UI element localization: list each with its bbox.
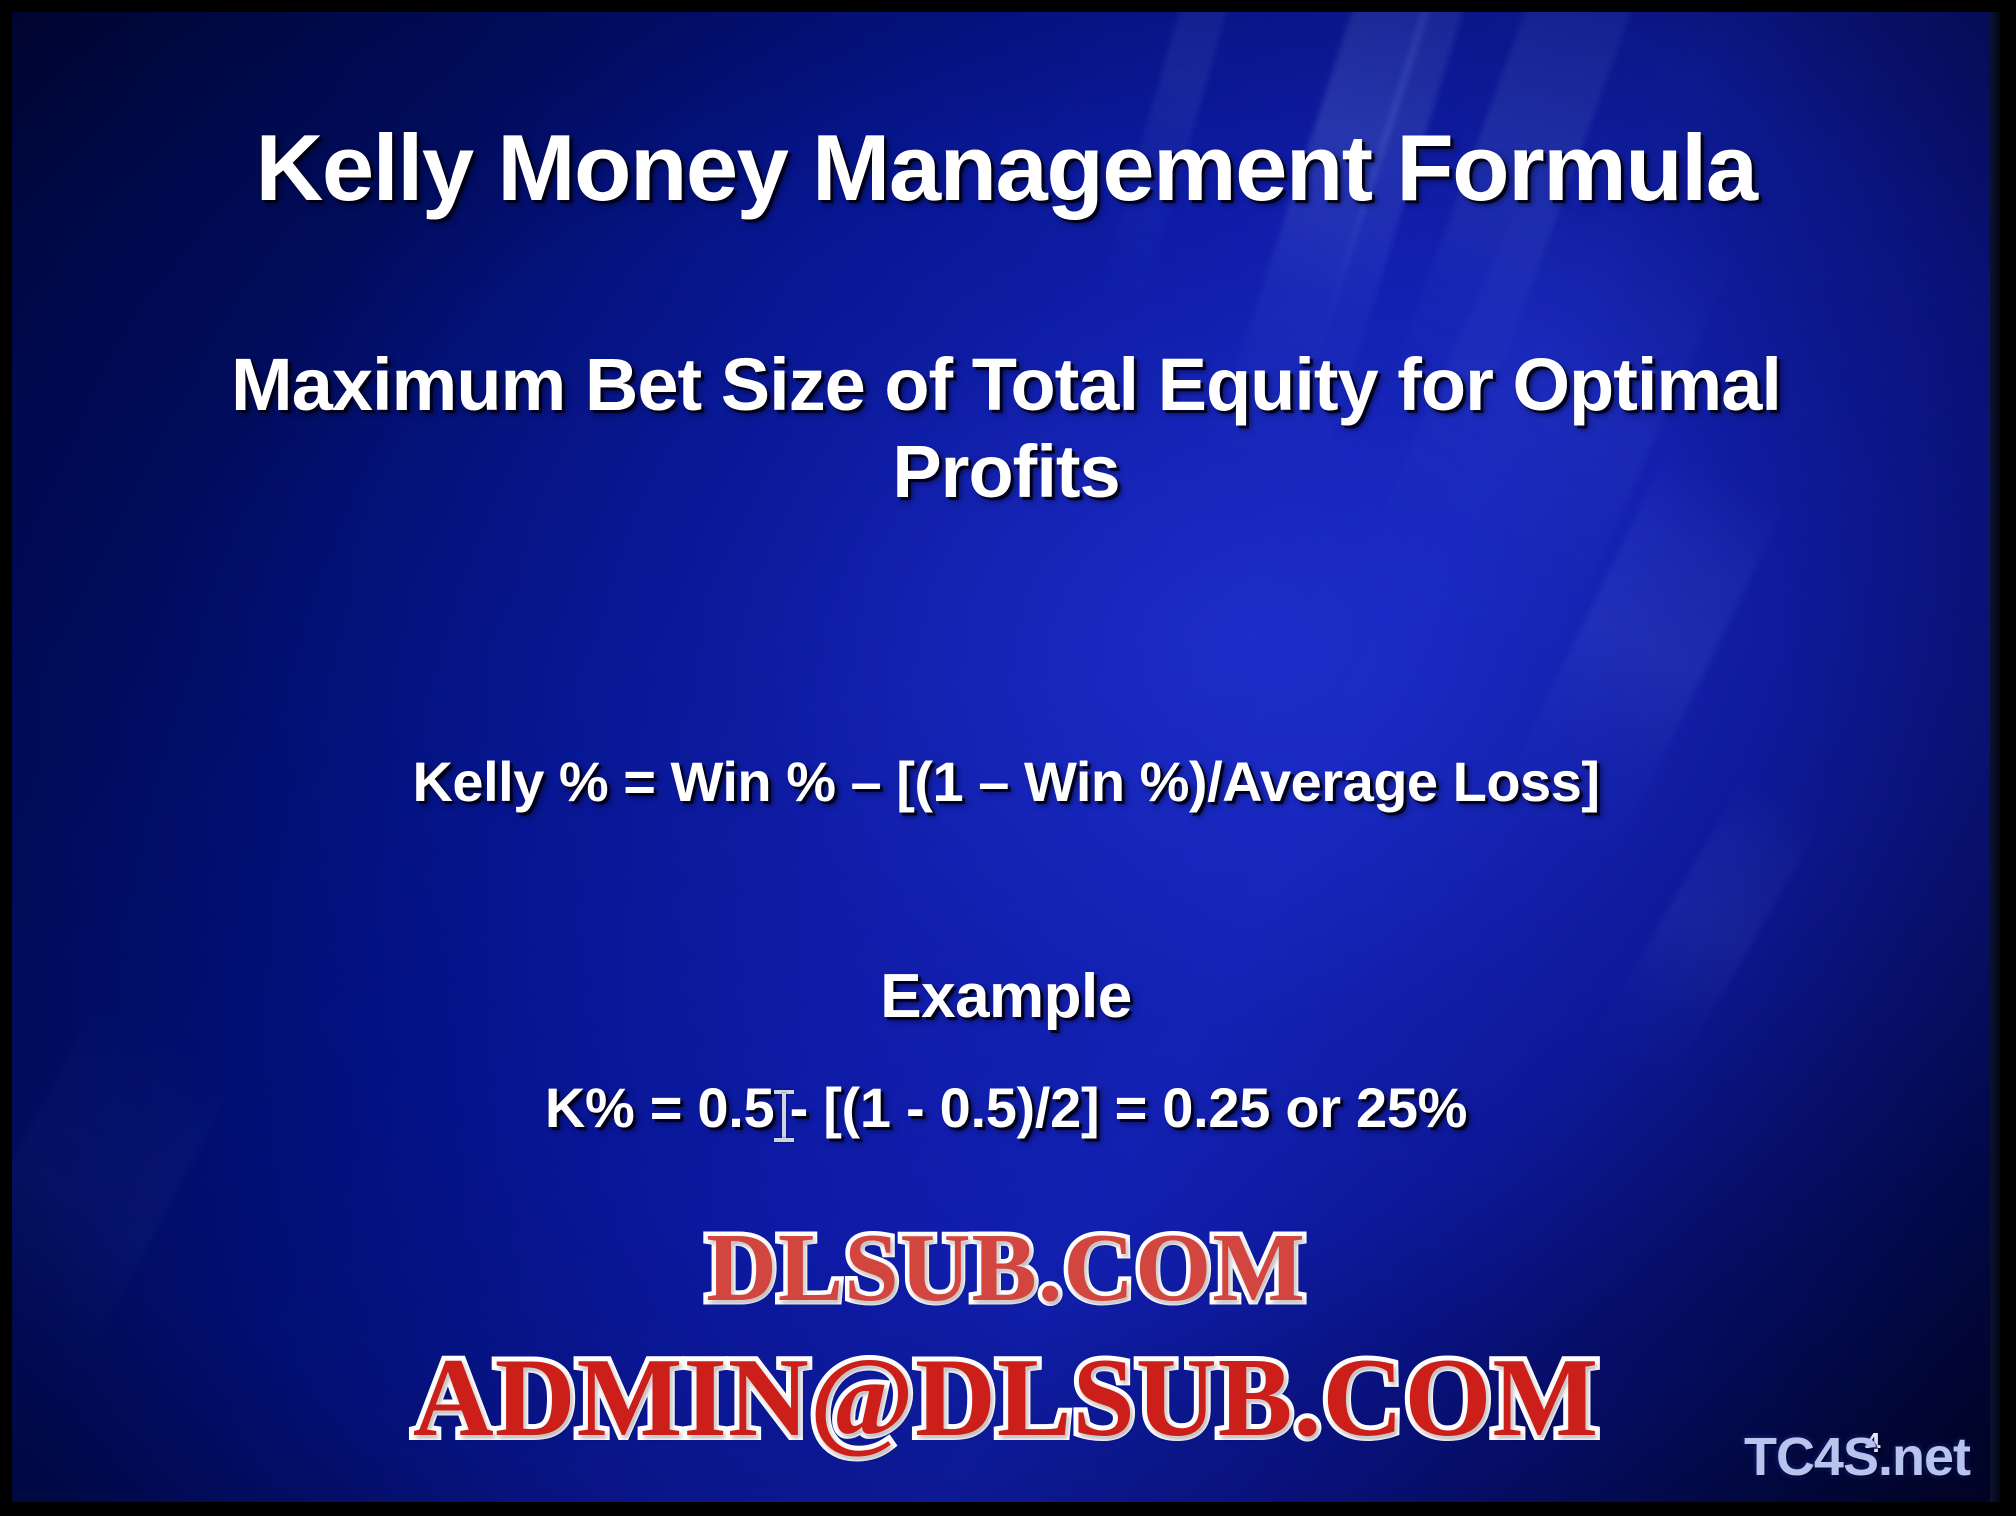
frame-right-border: [2000, 0, 2016, 1516]
presentation-screen: Kelly Money Management Formula Maximum B…: [0, 0, 2016, 1516]
slide-canvas: Kelly Money Management Formula Maximum B…: [12, 12, 2000, 1502]
slide-title: Kelly Money Management Formula: [12, 118, 2000, 218]
frame-top-border: [0, 0, 2016, 12]
watermark-site-url: DLSUB.COM: [12, 1212, 2000, 1324]
example-heading: Example: [12, 964, 2000, 1030]
watermark-contact-email: ADMIN@DLSUB.COM: [12, 1334, 2000, 1463]
example-formula-text: K% = 0.5 - [(1 - 0.5)/2] = 0.25 or 25%: [12, 1078, 2000, 1137]
frame-bottom-border: [0, 1502, 2016, 1516]
frame-left-border: [0, 0, 12, 1516]
slide-subtitle: Maximum Bet Size of Total Equity for Opt…: [12, 342, 2000, 515]
kelly-formula-text: Kelly % = Win % – [(1 – Win %)/Average L…: [12, 752, 2000, 811]
